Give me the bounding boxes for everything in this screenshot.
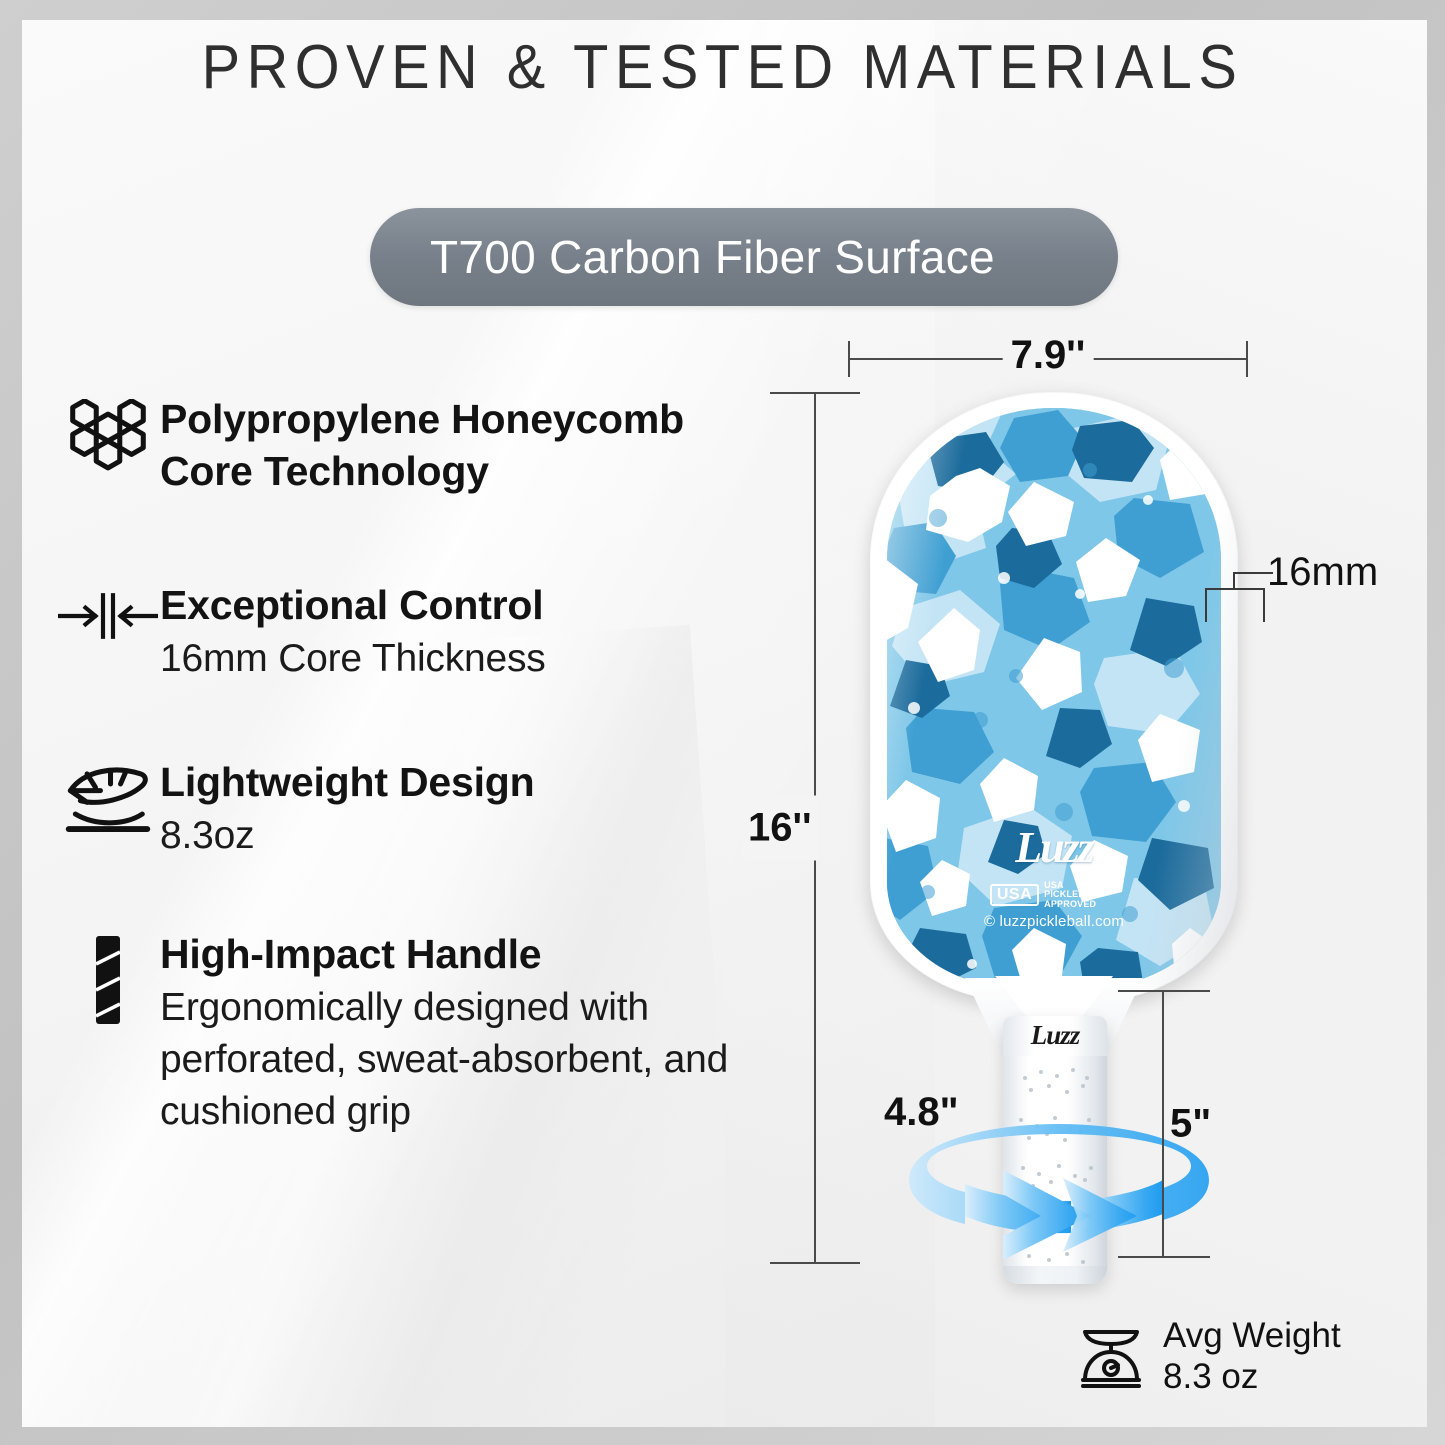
feature-text-core: Polypropylene Honeycomb Core Technology xyxy=(160,393,785,498)
thickness-arrows-icon-svg xyxy=(58,585,158,647)
height-dimension-label: 16'' xyxy=(742,796,818,861)
thickness-dimension-label: 16mm xyxy=(1267,550,1378,595)
feather-icon-svg xyxy=(62,762,154,836)
grip-end-cap xyxy=(1003,1266,1107,1284)
weight-label: Avg Weight xyxy=(1163,1315,1341,1356)
feature-title-handle: High-Impact Handle xyxy=(160,928,785,980)
weight-text: Avg Weight 8.3 oz xyxy=(1163,1315,1341,1398)
infographic-canvas: PROVEN & TESTED MATERIALS T700 Carbon Fi… xyxy=(0,0,1445,1445)
feature-item-core: Polypropylene Honeycomb Core Technology xyxy=(55,393,785,498)
feature-title-core: Polypropylene Honeycomb Core Technology xyxy=(160,393,785,498)
honeycomb-icon xyxy=(55,393,160,498)
weight-badge: Avg Weight 8.3 oz xyxy=(1075,1315,1341,1398)
width-dimension-label: 7.9'' xyxy=(1003,333,1094,378)
honeycomb-icon-svg xyxy=(66,399,150,483)
grip-length-line xyxy=(1162,990,1164,1258)
camo-svg xyxy=(887,408,1221,988)
feature-subtitle-handle: Ergonomically designed with perforated, … xyxy=(160,982,785,1138)
feature-item-weight: Lightweight Design 8.3oz xyxy=(55,756,785,862)
paddle-face: Luzz USA USA PICKLEBALL APPROVED © luzzp… xyxy=(870,392,1238,1002)
width-cap-right xyxy=(1246,341,1248,377)
weight-value: 8.3 oz xyxy=(1163,1356,1341,1397)
feather-icon xyxy=(55,756,160,862)
grip-length-cap-bottom xyxy=(1118,1256,1210,1258)
scale-icon xyxy=(1075,1320,1147,1392)
feature-title-control: Exceptional Control xyxy=(160,579,785,631)
surface-banner-label: T700 Carbon Fiber Surface xyxy=(370,230,995,284)
thickness-bracket xyxy=(1205,588,1265,622)
height-cap-top xyxy=(770,392,860,394)
feature-subtitle-control: 16mm Core Thickness xyxy=(160,633,785,685)
grip-length-label: 5" xyxy=(1170,1102,1211,1147)
thickness-leader-vertical xyxy=(1233,572,1235,590)
height-dimension: 16'' xyxy=(770,392,860,1264)
feature-text-weight: Lightweight Design 8.3oz xyxy=(160,756,785,862)
feature-title-weight: Lightweight Design xyxy=(160,756,785,808)
feature-text-control: Exceptional Control 16mm Core Thickness xyxy=(160,579,785,685)
paddle-illustration: Luzz USA USA PICKLEBALL APPROVED © luzzp… xyxy=(845,370,1275,1300)
width-cap-left xyxy=(848,341,850,377)
grip-length-dimension: 5" xyxy=(1118,990,1210,1258)
height-cap-bottom xyxy=(770,1262,860,1264)
thickness-dimension: 16mm xyxy=(1205,562,1445,624)
thickness-arrows-icon xyxy=(55,579,160,685)
feature-item-control: Exceptional Control 16mm Core Thickness xyxy=(55,579,785,685)
paddle-camo-pattern xyxy=(887,408,1221,988)
feature-text-handle: High-Impact Handle Ergonomically designe… xyxy=(160,928,785,1138)
grip-handle-icon-svg xyxy=(88,934,128,1026)
surface-banner: T700 Carbon Fiber Surface xyxy=(370,208,1118,306)
feature-item-handle: High-Impact Handle Ergonomically designe… xyxy=(55,928,785,1138)
grip-length-cap-top xyxy=(1118,990,1210,992)
grip-handle-icon xyxy=(55,928,160,1138)
feature-subtitle-weight: 8.3oz xyxy=(160,810,785,862)
page-title: PROVEN & TESTED MATERIALS xyxy=(51,32,1395,103)
width-dimension: 7.9'' xyxy=(848,341,1248,377)
grip-circumference-label: 4.8" xyxy=(884,1090,959,1135)
